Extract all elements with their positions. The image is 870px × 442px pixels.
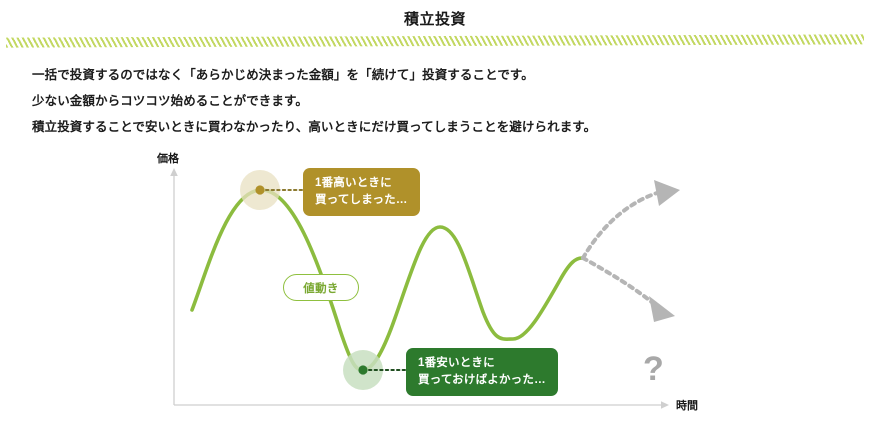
future-arrow-up-path <box>583 192 660 258</box>
price-movement-chart: 価格 時間 1番高いときに 買ってしまった… 1番安いときに 買っておけばよかっ… <box>0 140 870 442</box>
description-line-2: 少ない金額からコツコツ始めることができます。 <box>32 92 792 110</box>
highest-point-callout-line-2: 買ってしまった… <box>315 192 408 209</box>
chart-svg <box>0 140 870 442</box>
slide-canvas: 積立投資 一括で投資するのではなく「あらかじめ決まった金額」を「続けて」投資する… <box>0 0 870 442</box>
highest-point-dot-icon[interactable] <box>255 185 264 194</box>
future-arrow-down-path <box>583 258 654 304</box>
x-axis-label: 時間 <box>676 397 698 413</box>
diagonal-stripe-divider-icon <box>6 34 864 47</box>
x-axis-arrow-icon <box>661 401 669 409</box>
series-label-pill: 値動き <box>283 274 359 301</box>
uncertainty-question-mark: ? <box>643 352 664 386</box>
highest-point-callout-line-1: 1番高いときに <box>315 175 408 192</box>
lowest-point-callout-line-2: 買っておけばよかった… <box>418 372 546 389</box>
description-line-3: 積立投資することで安いときに買わなかったり、高いときにだけ買ってしまうことを避け… <box>32 118 792 136</box>
lowest-point-dot-icon[interactable] <box>358 365 367 374</box>
description-text: 一括で投資するのではなく「あらかじめ決まった金額」を「続けて」投資することです。… <box>32 66 792 144</box>
lowest-point-callout-line-1: 1番安いときに <box>418 355 546 372</box>
highest-point-callout: 1番高いときに 買ってしまった… <box>303 168 420 216</box>
future-arrow-up-head-icon <box>654 180 680 206</box>
description-line-1: 一括で投資するのではなく「あらかじめ決まった金額」を「続けて」投資することです。 <box>32 66 792 84</box>
page-title: 積立投資 <box>0 8 870 29</box>
y-axis-label: 価格 <box>157 150 179 166</box>
price-line <box>192 190 582 370</box>
y-axis-arrow-icon <box>170 168 178 176</box>
lowest-point-callout: 1番安いときに 買っておけばよかった… <box>406 348 558 396</box>
future-arrow-down-head-icon <box>649 296 675 322</box>
